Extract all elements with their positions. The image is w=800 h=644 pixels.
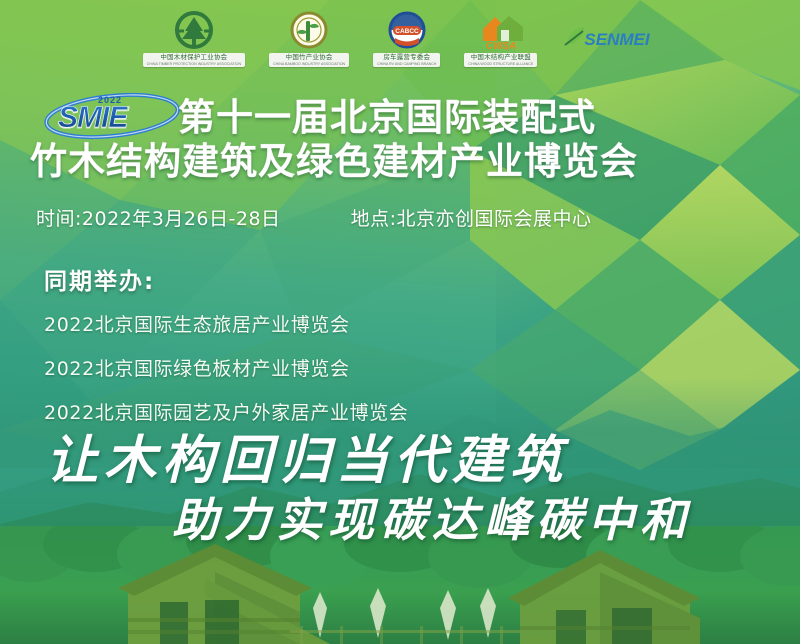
event-meta: 时间:2022年3月26日-28日 地点:北京亦创国际会展中心	[36, 204, 736, 231]
page-title: 第十一届北京国际装配式 竹木结构建筑及绿色建材产业博览会	[178, 96, 788, 140]
logo-caption: 中国竹产业协会 CHINA BAMBOO INDUSTRY ASSOCIATIO…	[269, 53, 349, 67]
house-roof-icon: CWSA	[473, 11, 529, 51]
logo-china-timber-protection-association: 中国木材保护工业协会 CHINA TIMBER PROTECTION INDUS…	[143, 11, 245, 67]
logo-cabcc-rv-camping-committee: CABCC 房车露营专委会 CHINA RV AND CAMPING BRANC…	[373, 11, 440, 67]
svg-text:CABCC: CABCC	[395, 28, 419, 35]
leaf-icon: SENMEI	[561, 21, 657, 53]
logo-caption: 中国木结构产业联盟 CHINA WOOD STRUCTURE ALLIANCE	[464, 53, 537, 67]
event-date: 时间:2022年3月26日-28日	[36, 204, 281, 231]
cabcc-shield-icon: CABCC	[385, 11, 429, 51]
svg-text:SENMEI: SENMEI	[585, 30, 651, 49]
concurrent-event-item: 2022北京国际绿色板材产业博览会	[44, 354, 564, 381]
association-logo-bar: 中国木材保护工业协会 CHINA TIMBER PROTECTION INDUS…	[0, 0, 800, 78]
concurrent-events-title: 同期举办:	[44, 262, 564, 296]
logo-senmei: SENMEI	[561, 21, 657, 57]
concurrent-events: 同期举办: 2022北京国际生态旅居产业博览会 2022北京国际绿色板材产业博览…	[44, 262, 564, 442]
slogan: 让木构回归当代建筑 助力实现碳达峰碳中和	[0, 418, 800, 548]
logo-caption: 中国木材保护工业协会 CHINA TIMBER PROTECTION INDUS…	[143, 53, 245, 67]
event-venue: 地点:北京亦创国际会展中心	[351, 204, 592, 231]
logo-caption: 房车露营专委会 CHINA RV AND CAMPING BRANCH	[373, 53, 440, 67]
bamboo-oval-icon	[287, 11, 331, 51]
headline-line-2: 竹木结构建筑及绿色建材产业博览会	[30, 140, 790, 184]
headline-line-1: 第十一届北京国际装配式	[178, 96, 788, 140]
svg-text:CWSA: CWSA	[486, 41, 517, 51]
tree-in-circle-icon	[172, 11, 216, 51]
smie-acronym: SMIE	[58, 101, 127, 135]
smie-year: 2022	[98, 95, 122, 105]
slogan-line-2: 助力实现碳达峰碳中和	[172, 484, 692, 550]
smie-brand-mark: 2022 SMIE	[42, 92, 182, 140]
logo-bamboo-industry-association: 中国竹产业协会 CHINA BAMBOO INDUSTRY ASSOCIATIO…	[269, 11, 349, 67]
concurrent-event-item: 2022北京国际生态旅居产业博览会	[44, 310, 564, 337]
slogan-line-1: 让木构回归当代建筑	[46, 418, 568, 493]
logo-cwsa-wood-structure-alliance: CWSA 中国木结构产业联盟 CHINA WOOD STRUCTURE ALLI…	[464, 11, 537, 67]
expo-poster: 中国木材保护工业协会 CHINA TIMBER PROTECTION INDUS…	[0, 0, 800, 644]
